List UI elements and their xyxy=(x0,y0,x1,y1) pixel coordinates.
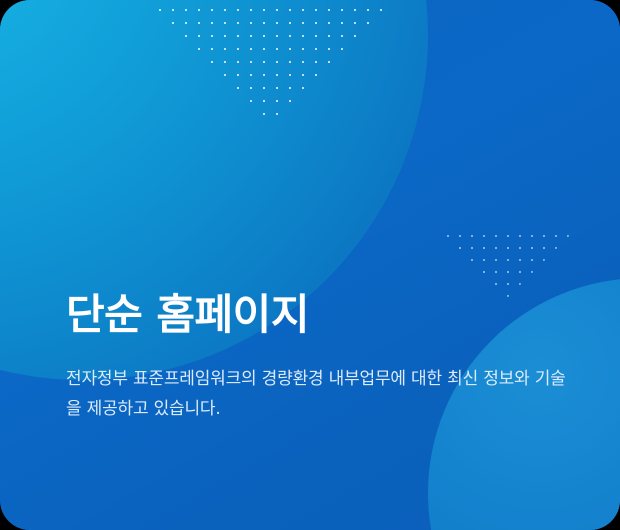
primary-dot-grid-decoration xyxy=(152,2,386,236)
page-subtitle: 전자정부 표준프레임워크의 경량환경 내부업무에 대한 최신 정보와 기술을 제… xyxy=(66,342,566,424)
page-title: 단순 홈페이지 xyxy=(66,288,576,342)
hero-banner: 단순 홈페이지 전자정부 표준프레임워크의 경량환경 내부업무에 대한 최신 정… xyxy=(0,0,620,530)
hero-copy-block: 단순 홈페이지 전자정부 표준프레임워크의 경량환경 내부업무에 대한 최신 정… xyxy=(66,288,576,424)
